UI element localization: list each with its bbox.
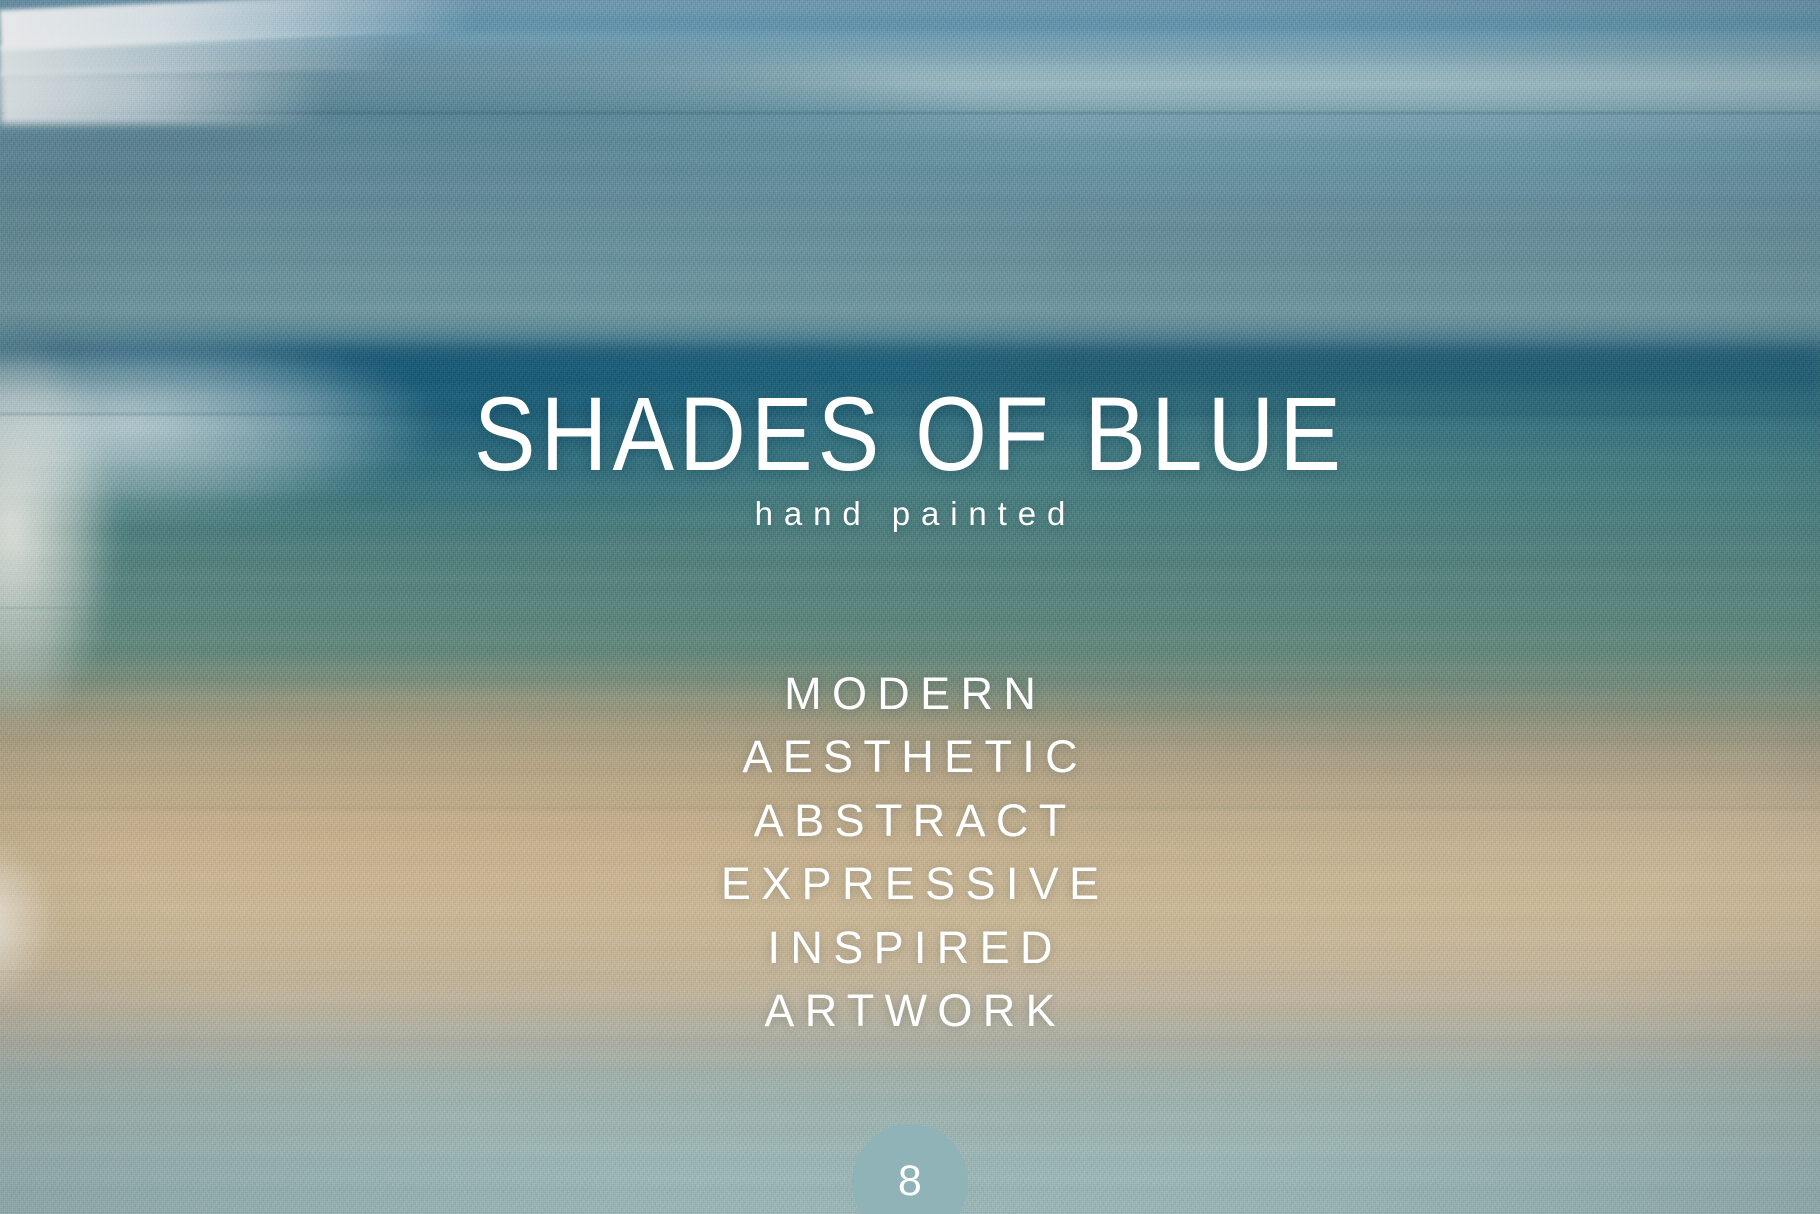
keyword-line: MODERN bbox=[0, 662, 1820, 725]
keyword-line: EXPRESSIVE bbox=[0, 852, 1820, 915]
dry-brush-streak-2 bbox=[0, 37, 401, 77]
keyword-line: AESTHETIC bbox=[0, 725, 1820, 788]
badge-count-label: 8 bbox=[898, 1160, 922, 1203]
keyword-line: ARTWORK bbox=[0, 979, 1820, 1042]
keyword-line: INSPIRED bbox=[0, 916, 1820, 979]
poster-title: SHADES OF BLUE bbox=[109, 382, 1711, 487]
dry-brush-streak-3 bbox=[0, 73, 328, 124]
poster-subtitle: hand painted bbox=[0, 497, 1820, 530]
keyword-list: MODERNAESTHETICABSTRACTEXPRESSIVEINSPIRE… bbox=[0, 662, 1820, 1043]
count-badge: 8 bbox=[852, 1124, 968, 1214]
watercolor-poster: SHADES OF BLUE hand painted MODERNAESTHE… bbox=[0, 0, 1820, 1214]
keyword-line: ABSTRACT bbox=[0, 789, 1820, 852]
